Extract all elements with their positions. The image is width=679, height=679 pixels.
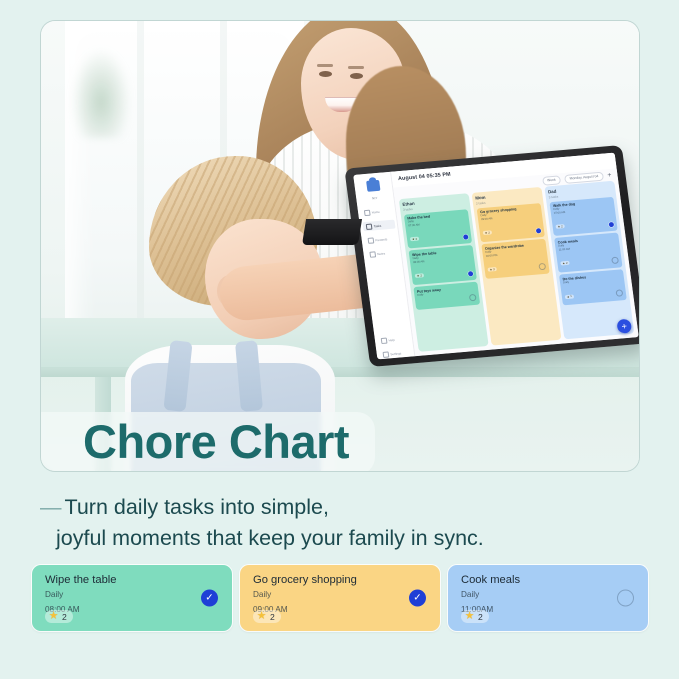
view-selector[interactable]: Week xyxy=(542,175,562,186)
tablet-task-card[interactable]: Do the dishes Daily ★1 xyxy=(559,270,627,306)
tablet-task-card[interactable]: Put toys away Daily xyxy=(413,282,480,310)
sidebar-item-label: Home xyxy=(371,209,380,214)
sidebar-item-label: Tasks xyxy=(373,223,381,228)
task-points-badge: ★ 2 xyxy=(45,610,73,623)
star-icon: ★ xyxy=(464,611,475,622)
tablet-task-card[interactable]: Wipe the table Daily 08:00 AM ★2 xyxy=(409,245,477,285)
window-mullion xyxy=(137,21,144,354)
tasks-icon xyxy=(365,223,372,229)
notes-icon xyxy=(369,251,376,257)
task-points-badge: ★2 xyxy=(410,237,419,242)
sidebar-item-label: Notes xyxy=(377,251,385,256)
tablet-task-card[interactable]: Make the bed Daily 07:30 AM ★2 xyxy=(404,209,472,249)
task-complete-checkbox[interactable] xyxy=(617,590,634,607)
task-points-badge: ★3 xyxy=(488,267,497,272)
sidebar-item-tasks[interactable]: Tasks xyxy=(362,220,395,232)
task-points: 2 xyxy=(270,612,275,622)
task-points-badge: ★ 2 xyxy=(253,610,281,623)
task-points-badge: ★2 xyxy=(483,231,492,236)
tablet-task-card[interactable]: Organize the wardrobe Daily 04:00 PM ★3 xyxy=(481,239,549,279)
task-points: 2 xyxy=(478,612,483,622)
star-icon: ★ xyxy=(256,611,267,622)
woman-brow xyxy=(317,64,333,67)
task-points-badge: ★2 xyxy=(556,225,565,230)
task-points-badge: ★ 2 xyxy=(461,610,489,623)
task-points-badge: ★2 xyxy=(560,261,569,266)
star-icon: ★ xyxy=(48,611,59,622)
task-check-icon[interactable] xyxy=(468,271,474,276)
task-frequency: Daily xyxy=(253,589,429,601)
task-check-icon[interactable] xyxy=(538,263,546,271)
woman-eye xyxy=(350,73,363,79)
task-check-icon[interactable] xyxy=(611,257,619,265)
task-card-wipe-the-table[interactable]: Wipe the table Daily 08:00 AM ★ 2 ✓ xyxy=(32,565,232,631)
task-points-badge: ★1 xyxy=(565,294,574,299)
page-root: NIY Home Tasks Rewards xyxy=(0,0,679,679)
tablet-stand xyxy=(302,219,362,245)
sidebar-item-label: Rewards xyxy=(375,237,387,242)
task-check-icon[interactable] xyxy=(469,294,477,302)
task-check-icon[interactable] xyxy=(536,228,542,233)
page-title: Chore Chart xyxy=(83,418,349,465)
tablet-task-card[interactable]: Cook meals Daily 11:00 AM ★2 xyxy=(554,233,622,273)
tagline: —Turn daily tasks into simple, joyful mo… xyxy=(40,492,640,553)
task-frequency: Daily xyxy=(45,589,221,601)
rewards-icon xyxy=(367,237,374,243)
hero-photo: NIY Home Tasks Rewards xyxy=(41,21,639,471)
help-icon xyxy=(380,337,387,343)
task-complete-checkbox[interactable]: ✓ xyxy=(201,590,218,607)
task-frequency: Daily xyxy=(461,589,637,601)
sidebar-item-help[interactable]: Help xyxy=(377,334,410,346)
task-title: Cook meals xyxy=(461,574,637,586)
title-badge: Chore Chart xyxy=(41,412,375,471)
plant-blur xyxy=(71,48,131,138)
task-points: 2 xyxy=(62,612,67,622)
woman-brow xyxy=(348,66,364,69)
sidebar-item-home[interactable]: Home xyxy=(360,206,393,218)
task-complete-checkbox[interactable]: ✓ xyxy=(409,590,426,607)
tablet-task-card[interactable]: Go grocery shopping Daily 09:00 AM ★2 xyxy=(477,203,545,243)
home-icon xyxy=(363,209,370,215)
task-title: Wipe the table xyxy=(45,574,221,586)
tagline-line-1: Turn daily tasks into simple, xyxy=(65,495,329,519)
family-logo-icon xyxy=(366,180,380,192)
tablet-columns: Ethan 3 tasks Make the bed Daily 07:30 A… xyxy=(395,180,639,356)
sidebar-item-notes[interactable]: Notes xyxy=(366,247,399,259)
gear-icon xyxy=(382,351,389,357)
sidebar-item-label: Help xyxy=(388,337,395,341)
task-card-cook-meals[interactable]: Cook meals Daily 11:00AM ★ 2 xyxy=(448,565,648,631)
sidebar-spacer xyxy=(383,263,392,330)
tablet-screen[interactable]: NIY Home Tasks Rewards xyxy=(353,153,639,360)
task-check-icon[interactable] xyxy=(616,290,624,298)
task-card-go-grocery-shopping[interactable]: Go grocery shopping Daily 09:00 AM ★ 2 ✓ xyxy=(240,565,440,631)
tagline-dash: — xyxy=(40,495,61,519)
sidebar-item-rewards[interactable]: Rewards xyxy=(364,234,397,246)
task-title: Go grocery shopping xyxy=(253,574,429,586)
tablet-date-title: August 04 05:35 PM xyxy=(398,172,451,182)
task-check-icon[interactable] xyxy=(463,234,469,239)
tablet-task-card[interactable]: Walk the dog Daily 07:00 AM ★2 xyxy=(549,196,617,236)
sidebar-item-label: Settings xyxy=(390,351,401,356)
task-check-icon[interactable] xyxy=(609,222,615,227)
tagline-line-2: joyful moments that keep your family in … xyxy=(40,523,640,554)
task-points-badge: ★2 xyxy=(415,274,424,279)
tablet-main: August 04 05:35 PM Week Monday, August 0… xyxy=(391,153,639,357)
tablet-device: NIY Home Tasks Rewards xyxy=(344,145,639,367)
task-card-row: Wipe the table Daily 08:00 AM ★ 2 ✓ Go g… xyxy=(32,565,648,631)
plus-icon[interactable]: + xyxy=(607,171,612,178)
tablet-logo-label: NIY xyxy=(372,196,378,200)
